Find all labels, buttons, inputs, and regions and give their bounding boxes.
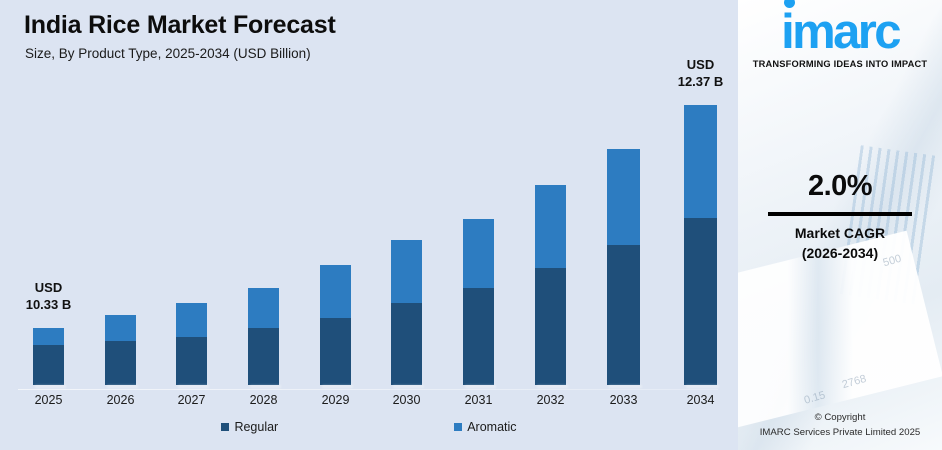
bar-2027[interactable] — [176, 303, 207, 385]
chart-subtitle: Size, By Product Type, 2025-2034 (USD Bi… — [25, 46, 311, 61]
cagr-label: Market CAGR — [738, 225, 942, 241]
copyright-line-1: © Copyright — [738, 411, 942, 425]
bar-segment-aromatic[interactable] — [105, 315, 136, 341]
cagr-block: 2.0% Market CAGR (2026-2034) — [738, 170, 942, 261]
x-axis-line — [18, 389, 718, 390]
legend-swatch-regular-icon — [221, 423, 229, 431]
logo-wordmark: imarc — [781, 8, 899, 57]
bar-segment-aromatic[interactable] — [320, 265, 351, 318]
data-label-2025: USD 10.33 B — [1, 280, 96, 313]
bar-shadow — [35, 385, 66, 388]
logo-text: imarc — [781, 5, 899, 59]
bar-shadow — [465, 385, 496, 388]
legend-item-aromatic[interactable]: Aromatic — [454, 420, 516, 434]
bar-segment-regular[interactable] — [535, 268, 566, 385]
bar-segment-regular[interactable] — [684, 218, 717, 385]
legend-label-regular: Regular — [234, 420, 278, 434]
x-axis-label-2028: 2028 — [236, 393, 291, 407]
x-axis-label-2029: 2029 — [308, 393, 363, 407]
bar-segment-aromatic[interactable] — [684, 105, 717, 218]
cagr-divider — [768, 212, 912, 216]
bar-segment-regular[interactable] — [463, 288, 494, 385]
x-axis-label-2030: 2030 — [379, 393, 434, 407]
legend-item-regular[interactable]: Regular — [221, 420, 278, 434]
bar-segment-regular[interactable] — [320, 318, 351, 385]
bar-segment-regular[interactable] — [176, 337, 207, 385]
data-label-2034: USD 12.37 B — [650, 57, 751, 90]
bar-segment-regular[interactable] — [248, 328, 279, 385]
bar-shadow — [250, 385, 281, 388]
x-axis-label-2026: 2026 — [93, 393, 148, 407]
bar-2028[interactable] — [248, 288, 279, 385]
bar-2032[interactable] — [535, 185, 566, 385]
bar-2025[interactable] — [33, 328, 64, 385]
x-axis-label-2034: 2034 — [672, 393, 729, 407]
bar-shadow — [686, 385, 719, 388]
x-axis-label-2025: 2025 — [21, 393, 76, 407]
imarc-logo[interactable]: imarc TRANSFORMING IDEAS INTO IMPACT — [738, 8, 942, 69]
bar-segment-aromatic[interactable] — [391, 240, 422, 303]
bar-2026[interactable] — [105, 315, 136, 385]
bar-shadow — [107, 385, 138, 388]
bar-segment-aromatic[interactable] — [176, 303, 207, 337]
bar-segment-aromatic[interactable] — [535, 185, 566, 268]
bar-segment-regular[interactable] — [391, 303, 422, 385]
side-panel: 0.15 2768 500 imarc TRANSFORMING IDEAS I… — [738, 0, 942, 450]
bar-segment-regular[interactable] — [105, 341, 136, 385]
chart-legend: Regular Aromatic — [0, 420, 738, 434]
x-axis-label-2027: 2027 — [164, 393, 219, 407]
cagr-period: (2026-2034) — [738, 245, 942, 261]
bar-2030[interactable] — [391, 240, 422, 385]
x-axis-label-2032: 2032 — [523, 393, 578, 407]
plot-area — [0, 60, 738, 390]
legend-label-aromatic: Aromatic — [467, 420, 516, 434]
bar-2029[interactable] — [320, 265, 351, 385]
bar-segment-aromatic[interactable] — [463, 219, 494, 288]
bar-2031[interactable] — [463, 219, 494, 385]
bar-shadow — [537, 385, 568, 388]
bar-segment-regular[interactable] — [607, 245, 640, 385]
bar-shadow — [393, 385, 424, 388]
bar-segment-aromatic[interactable] — [33, 328, 64, 345]
x-axis-label-2031: 2031 — [451, 393, 506, 407]
x-axis-label-2033: 2033 — [595, 393, 652, 407]
bar-2034[interactable] — [684, 105, 717, 385]
copyright-notice: © Copyright IMARC Services Private Limit… — [738, 411, 942, 440]
logo-tagline: TRANSFORMING IDEAS INTO IMPACT — [738, 59, 942, 69]
bar-shadow — [322, 385, 353, 388]
chart-panel: India Rice Market Forecast Size, By Prod… — [0, 0, 738, 450]
cagr-value: 2.0% — [738, 170, 942, 203]
copyright-line-2: IMARC Services Private Limited 2025 — [738, 426, 942, 440]
bar-segment-aromatic[interactable] — [248, 288, 279, 328]
bar-segment-regular[interactable] — [33, 345, 64, 385]
bar-shadow — [609, 385, 642, 388]
bar-2033[interactable] — [607, 149, 640, 385]
bar-shadow — [178, 385, 209, 388]
page-title: India Rice Market Forecast — [24, 11, 336, 40]
bar-segment-aromatic[interactable] — [607, 149, 640, 245]
legend-swatch-aromatic-icon — [454, 423, 462, 431]
